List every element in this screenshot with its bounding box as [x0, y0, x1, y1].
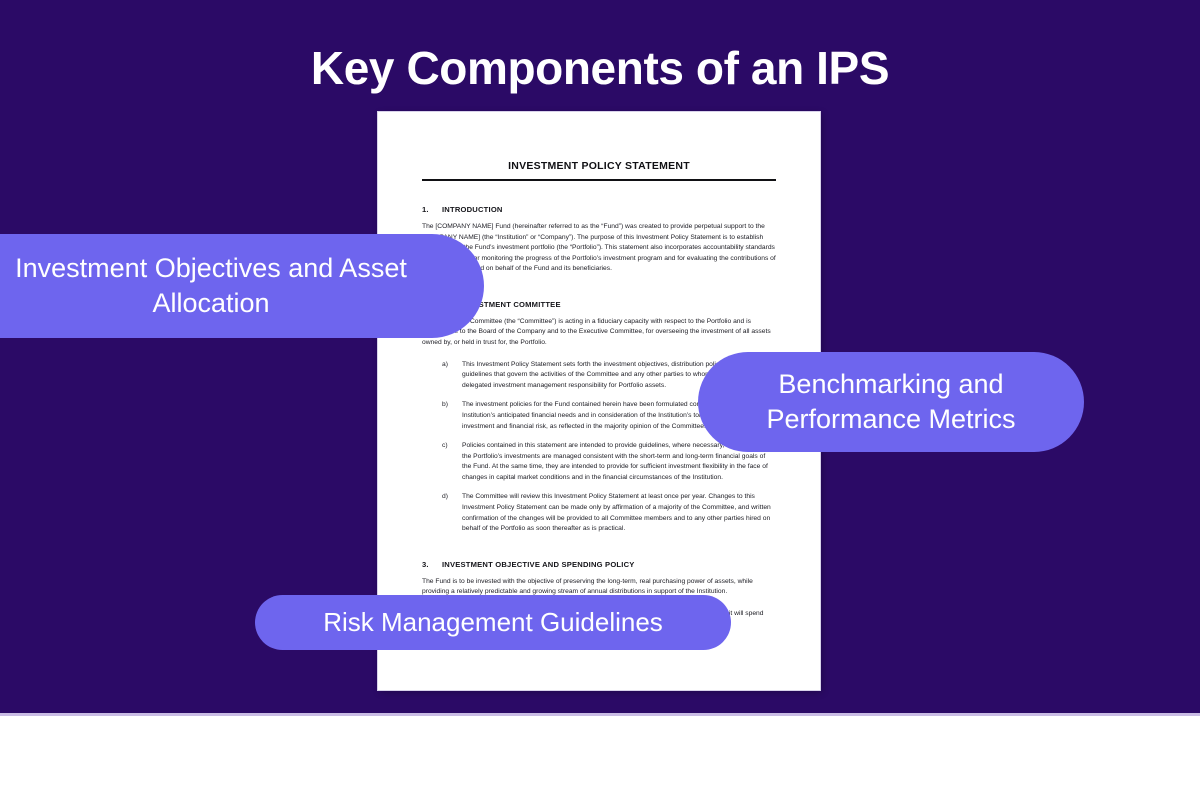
document-section-heading: 1. INTRODUCTION	[422, 205, 776, 214]
list-item: c) Policies contained in this statement …	[422, 441, 776, 483]
list-item-text: The Committee will review this Investmen…	[462, 492, 776, 534]
section-number: 3.	[422, 560, 432, 569]
pill-risk-management[interactable]: Risk Management Guidelines	[255, 595, 731, 650]
list-item-marker: d)	[442, 492, 453, 534]
pill-label: Risk Management Guidelines	[323, 606, 663, 640]
section-heading-text: INVESTMENT OBJECTIVE AND SPENDING POLICY	[442, 560, 635, 569]
pill-label: Investment Objectives and Asset Allocati…	[0, 251, 450, 321]
document-title-rule	[422, 179, 776, 181]
list-item: d) The Committee will review this Invest…	[422, 492, 776, 534]
document-title: INVESTMENT POLICY STATEMENT	[422, 160, 776, 172]
page-title: Key Components of an IPS	[0, 42, 1200, 95]
footer-bar: ww.investipal.co ✦ INVESTI P	[0, 716, 1200, 800]
section-heading-text: INTRODUCTION	[442, 205, 503, 214]
pill-benchmarking[interactable]: Benchmarking and Performance Metrics	[698, 352, 1084, 452]
section-spacer	[422, 546, 776, 560]
document-paragraph: The Investment Committee (the “Committee…	[422, 317, 776, 349]
pill-investment-objectives[interactable]: Investment Objectives and Asset Allocati…	[0, 234, 484, 338]
list-item-marker: a)	[442, 360, 453, 392]
section-number: 1.	[422, 205, 432, 214]
document-section-heading: 3. INVESTMENT OBJECTIVE AND SPENDING POL…	[422, 560, 776, 569]
pill-label: Benchmarking and Performance Metrics	[732, 367, 1050, 437]
list-item-marker: c)	[442, 441, 453, 483]
list-item-marker: b)	[442, 400, 453, 432]
slide-canvas: Key Components of an IPS INVESTMENT POLI…	[0, 0, 1200, 800]
